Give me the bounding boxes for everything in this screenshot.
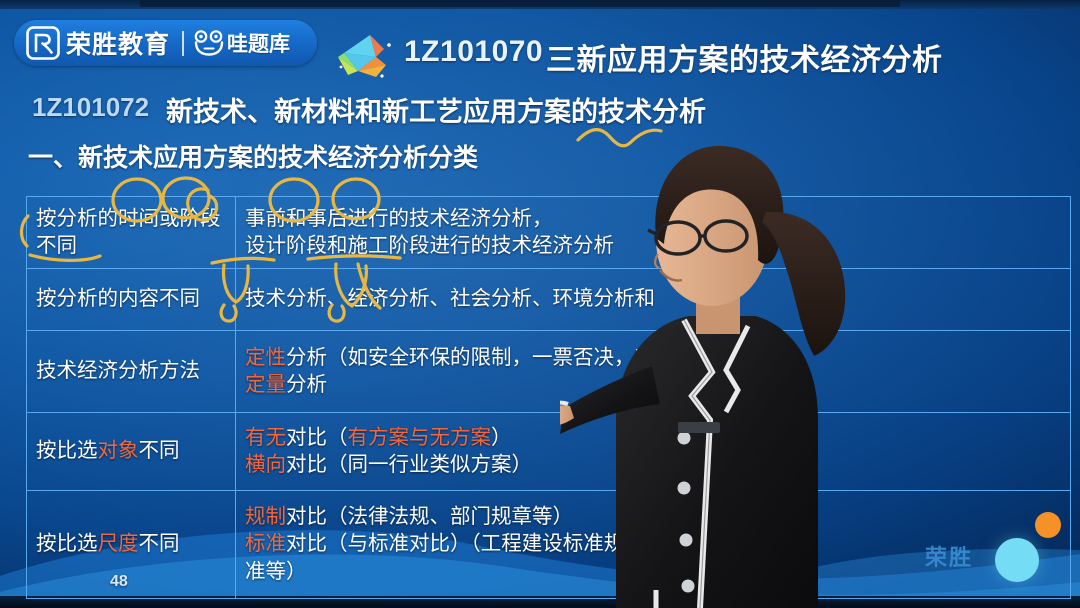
colorful-triangle-icon (336, 31, 398, 83)
jacket (616, 316, 818, 608)
table-row: 按分析的内容不同技术分析、经济分析、社会分析、环境分析和 (27, 269, 1071, 331)
highlight-text: 有方案与无方案 (348, 426, 492, 449)
table-row-label: 按分析的内容不同 (27, 269, 236, 331)
classification-table: 按分析的时间或阶段不同事前和事后进行的技术经济分析，设计阶段和施工阶段进行的技术… (26, 196, 1071, 599)
table-row: 技术经济分析方法定性分析（如安全环保的限制，一票否决，定性分析）定量分析 (27, 331, 1071, 413)
cell-text: 不同 (139, 439, 180, 462)
highlight-text: 横向 (245, 453, 286, 476)
highlight-text: 尺度 (98, 532, 139, 555)
top-letterbox-band-inner (140, 0, 900, 7)
table-row-label: 技术经济分析方法 (27, 331, 236, 413)
rongsheng-logo-icon (26, 26, 60, 60)
cell-text: 对比（ (286, 426, 348, 449)
cell-text: 对比（同一行业类似方案） (286, 453, 532, 476)
subsection-title: 一、新技术应用方案的技术经济分析分类 (28, 138, 478, 174)
brand-logo-pill[interactable]: 荣胜教育 哇题库 (14, 20, 317, 66)
watermark-cyan-dot (995, 538, 1039, 582)
chapter-code: 1Z101070 (404, 35, 543, 69)
brand-name-primary: 荣胜教育 (66, 25, 170, 61)
presenter-figure (560, 120, 890, 608)
header-bar: 荣胜教育 哇题库 1Z101070 三新应用方案 (0, 9, 1080, 81)
cell-text: 准等） (245, 560, 307, 583)
watermark-brand-text: 荣胜 (925, 540, 973, 572)
table-row: 按比选对象不同有无对比（有方案与无方案）横向对比（同一行业类似方案） (27, 413, 1071, 491)
cell-text: 设计阶段和施工阶段进行的技术经济分析 (245, 234, 614, 257)
cell-text: 对比（法律法规、部门规章等） (286, 505, 573, 528)
highlight-text: 规制 (245, 505, 286, 528)
frog-icon (194, 30, 224, 56)
cell-text: 按比选 (36, 532, 98, 555)
table-row-label: 按比选对象不同 (27, 413, 236, 491)
cell-text: 事前和事后进行的技术经济分析， (245, 207, 553, 230)
highlight-text: 有无 (245, 426, 286, 449)
table-row-label: 按比选尺度不同 (27, 491, 236, 599)
table-row-label: 按分析的时间或阶段不同 (27, 197, 236, 269)
table-row: 按分析的时间或阶段不同事前和事后进行的技术经济分析，设计阶段和施工阶段进行的技术… (27, 197, 1071, 269)
section-code: 1Z101072 (32, 92, 149, 123)
page-number: 48 (110, 573, 128, 591)
chapter-title: 三新应用方案的技术经济分析 (546, 35, 943, 79)
cell-text: 不同 (139, 532, 180, 555)
watermark-orange-dot (1035, 512, 1061, 538)
highlight-text: 定量 (245, 373, 286, 396)
video-lecture-frame: 荣胜教育 哇题库 1Z101070 三新应用方案 (0, 0, 1080, 608)
brand-divider (182, 31, 184, 56)
brand-name-secondary: 哇题库 (227, 28, 290, 58)
table-body: 按分析的时间或阶段不同事前和事后进行的技术经济分析，设计阶段和施工阶段进行的技术… (27, 197, 1071, 599)
highlight-text: 标准 (245, 532, 286, 555)
highlight-text: 对象 (98, 439, 139, 462)
cell-text: ） (491, 426, 512, 449)
highlight-text: 定性 (245, 346, 286, 369)
table-row: 按比选尺度不同规制对比（法律法规、部门规章等）标准对比（与标准对比）（工程建设标… (27, 491, 1071, 599)
cell-text: 按比选 (36, 439, 98, 462)
cell-text: 分析 (286, 373, 327, 396)
